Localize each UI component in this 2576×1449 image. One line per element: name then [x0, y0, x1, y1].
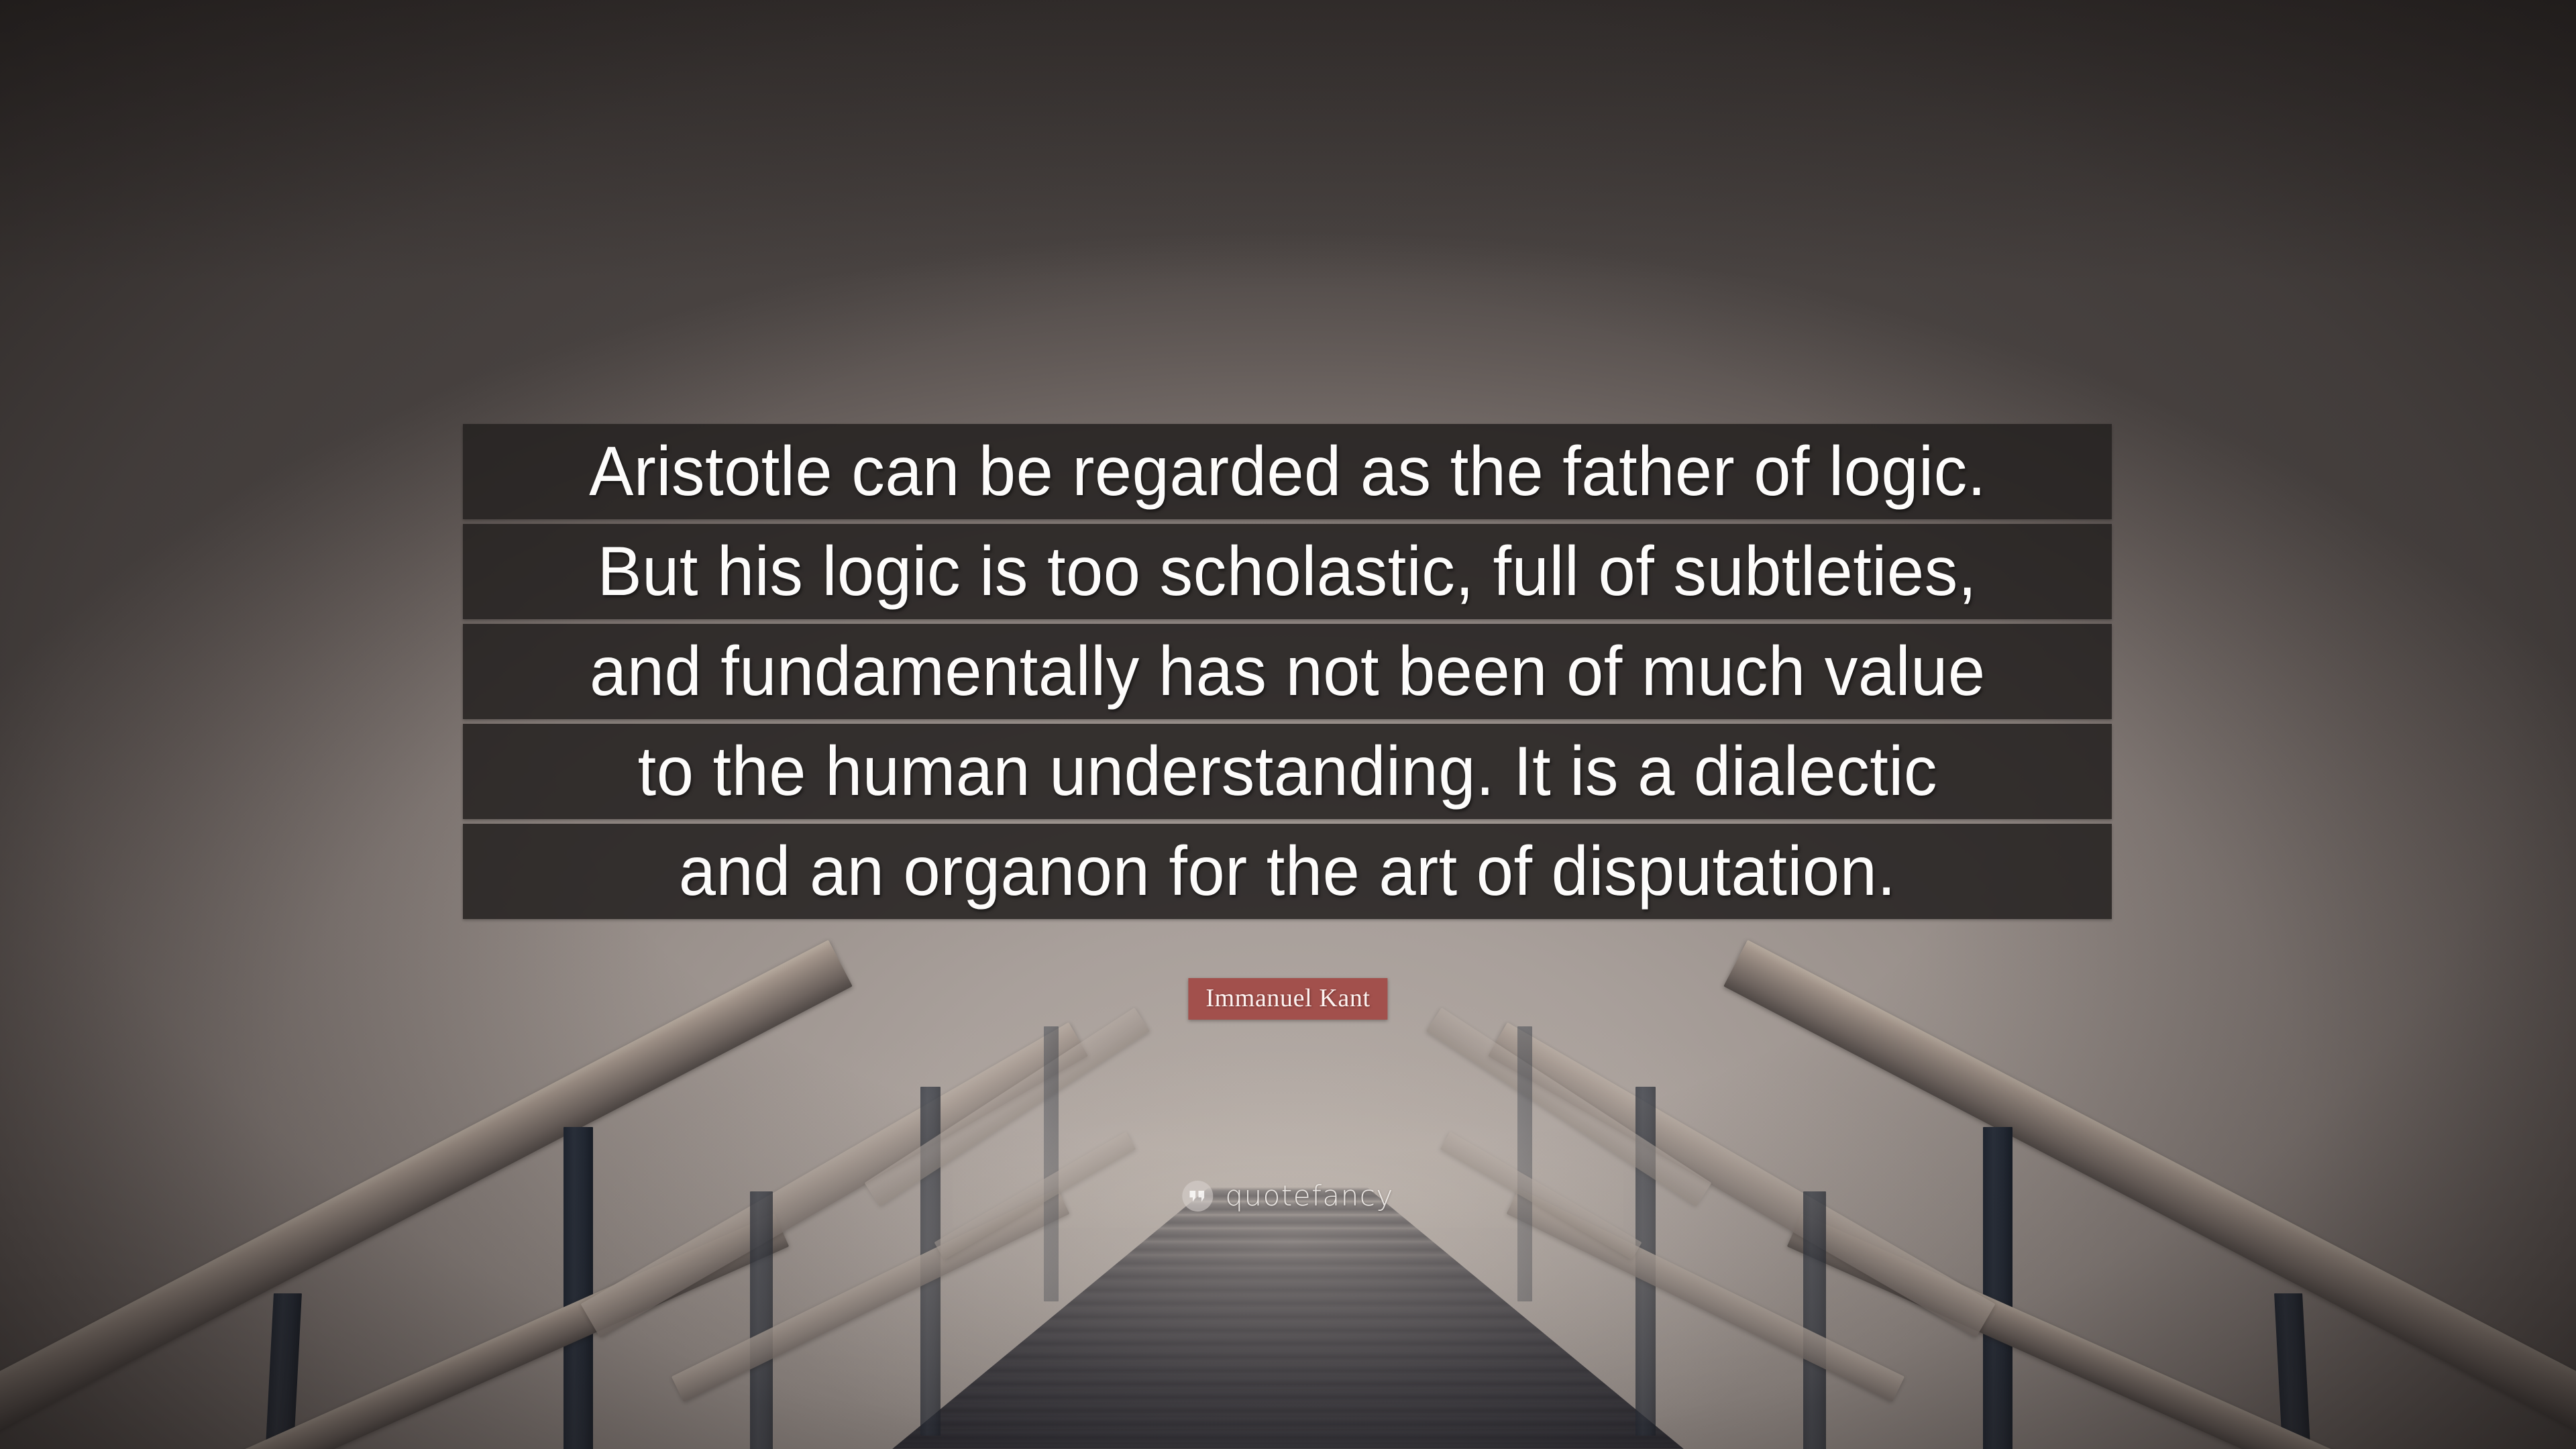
- author-badge: Immanuel Kant: [1188, 978, 1387, 1020]
- quote-block: Aristotle can be regarded as the father …: [463, 424, 2112, 924]
- quotefancy-brand-text: quotefancy: [1225, 1182, 1393, 1210]
- quote-line-text: Aristotle can be regarded as the father …: [589, 437, 1986, 506]
- quote-line-text: to the human understanding. It is a dial…: [637, 737, 1937, 806]
- quote-line: But his logic is too scholastic, full of…: [463, 524, 2112, 619]
- quote-line-text: and an organon for the art of disputatio…: [679, 837, 1896, 906]
- quote-wallpaper: Aristotle can be regarded as the father …: [0, 0, 2576, 1449]
- quote-line: to the human understanding. It is a dial…: [463, 724, 2112, 819]
- quote-line: and an organon for the art of disputatio…: [463, 824, 2112, 919]
- quote-line: Aristotle can be regarded as the father …: [463, 424, 2112, 519]
- quote-line-text: and fundamentally has not been of much v…: [590, 637, 1986, 706]
- quotefancy-watermark[interactable]: quotefancy: [1182, 1181, 1393, 1212]
- author-name: Immanuel Kant: [1205, 985, 1370, 1011]
- quote-line-text: But his logic is too scholastic, full of…: [598, 537, 1977, 606]
- double-quote-icon: [1182, 1181, 1213, 1212]
- quote-line: and fundamentally has not been of much v…: [463, 624, 2112, 719]
